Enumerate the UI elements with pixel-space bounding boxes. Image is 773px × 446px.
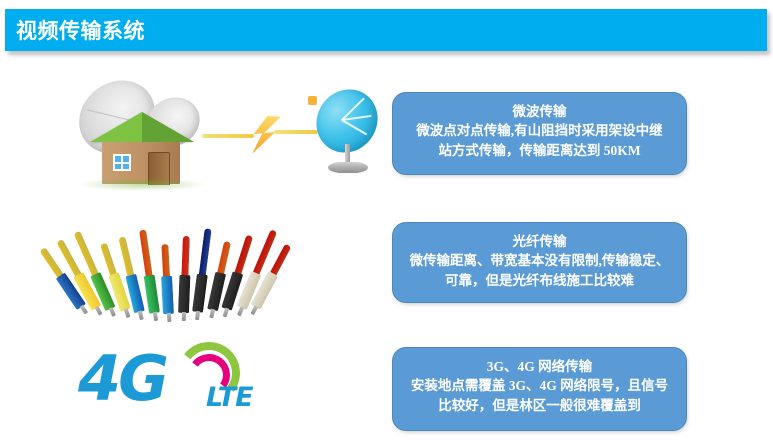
fiber-illustration [60, 205, 360, 320]
fiber-tip [137, 310, 143, 320]
content-row-fiber: 光纤传输 微传输距离、带宽基本没有限制,传输稳定、 可靠，但是光纤布线施工比较难 [0, 205, 773, 320]
content-row-mobile-network: 4G LTE 3G、4G 网络传输 安装地点需覆盖 3G、4G 网络限号，且信号… [0, 332, 773, 442]
fiber-connector [236, 306, 246, 310]
fiber-cable [181, 236, 190, 277]
fiber-tip [152, 312, 157, 321]
callout-microwave: 微波传输 微波点对点传输,有山阻挡时采用架设中继 站方式传输，传输距离达到 50… [392, 92, 687, 175]
fiber-tip [166, 313, 170, 322]
callout-microwave-line2: 站方式传输，传输距离达到 50KM [403, 141, 676, 161]
microwave-illustration [60, 78, 360, 188]
fiber-connector [120, 309, 130, 312]
house-ground-shadow [80, 178, 205, 191]
house-roof-shade [142, 112, 194, 142]
fiber-connector [163, 314, 174, 315]
fiber-connector [207, 309, 218, 311]
fiber-connector [149, 312, 160, 314]
fiber-cable [199, 228, 212, 277]
fiber-tip [236, 306, 243, 316]
house-window-icon [113, 154, 131, 171]
callout-fiber-line2: 可靠，但是光纤布线施工比较难 [403, 271, 676, 291]
fiber-ferrule [143, 274, 159, 313]
fiber-tip [222, 308, 229, 318]
fiber-cable [234, 235, 253, 276]
fiber-ferrule [161, 276, 174, 315]
callout-fiber: 光纤传输 微传输距离、带宽基本没有限制,传输稳定、 可靠，但是光纤布线施工比较难 [392, 222, 687, 303]
microwave-art-group [60, 78, 360, 188]
fiber-connector [77, 304, 86, 310]
callout-microwave-line1: 微波点对点传输,有山阻挡时采用架设中继 [403, 121, 676, 141]
logo-primary-text: 4G [78, 348, 166, 410]
fiber-tip [250, 305, 258, 315]
satellite-stand-base [328, 162, 368, 173]
fiber-ferrule [192, 273, 208, 312]
fiber-tip [94, 306, 102, 316]
fiber-ferrule [178, 275, 190, 313]
callout-mobile-network: 3G、4G 网络传输 安装地点需覆盖 3G、4G 网络限号，且信号 比较好，但是… [392, 347, 687, 431]
fiber-tip [123, 309, 130, 319]
dish-ray-3 [341, 119, 367, 135]
lte-art-group: 4G LTE [60, 332, 360, 442]
callout-fiber-heading: 光纤传输 [403, 232, 676, 251]
fiber-cable [118, 236, 134, 278]
lte-illustration: 4G LTE [60, 332, 360, 442]
content-row-microwave: 微波传输 微波点对点传输,有山阻挡时采用架设中继 站方式传输，传输距离达到 50… [0, 78, 773, 188]
callout-mobile-line2: 比较好，但是林区一般很难覆盖到 [403, 396, 676, 416]
signal-beam-left [202, 134, 254, 138]
fiber-connector [134, 310, 145, 313]
fiber-cable [99, 243, 116, 277]
fiber-cable [139, 229, 153, 278]
signal-beam-right [274, 130, 318, 134]
callout-mobile-heading: 3G、4G 网络传输 [403, 357, 676, 376]
lte-logo: 4G LTE [78, 342, 278, 428]
fiber-connector [221, 308, 231, 311]
fiber-connector [192, 311, 203, 312]
fiber-connectors-group [60, 205, 360, 320]
fiber-tip [79, 305, 87, 315]
title-bar: 视频传输系统 [5, 9, 767, 51]
fiber-tip [194, 310, 199, 319]
fiber-cable [216, 241, 230, 276]
callout-microwave-heading: 微波传输 [403, 102, 676, 121]
fiber-connector [105, 307, 115, 311]
fiber-tip [181, 312, 185, 321]
logo-secondary-text: LTE [206, 384, 253, 411]
fiber-tip [208, 309, 214, 319]
page-title: 视频传输系统 [16, 15, 145, 45]
fiber-cable [269, 243, 291, 276]
fiber-connector [251, 304, 261, 309]
fiber-connector [91, 305, 101, 310]
satellite-feed-horn-icon [308, 96, 317, 105]
callout-fiber-line1: 微传输距离、带宽基本没有限制,传输稳定、 [403, 251, 676, 271]
fiber-tip [108, 307, 115, 317]
callout-mobile-line1: 安装地点需覆盖 3G、4G 网络限号，且信号 [403, 376, 676, 396]
fiber-cable [161, 244, 170, 278]
